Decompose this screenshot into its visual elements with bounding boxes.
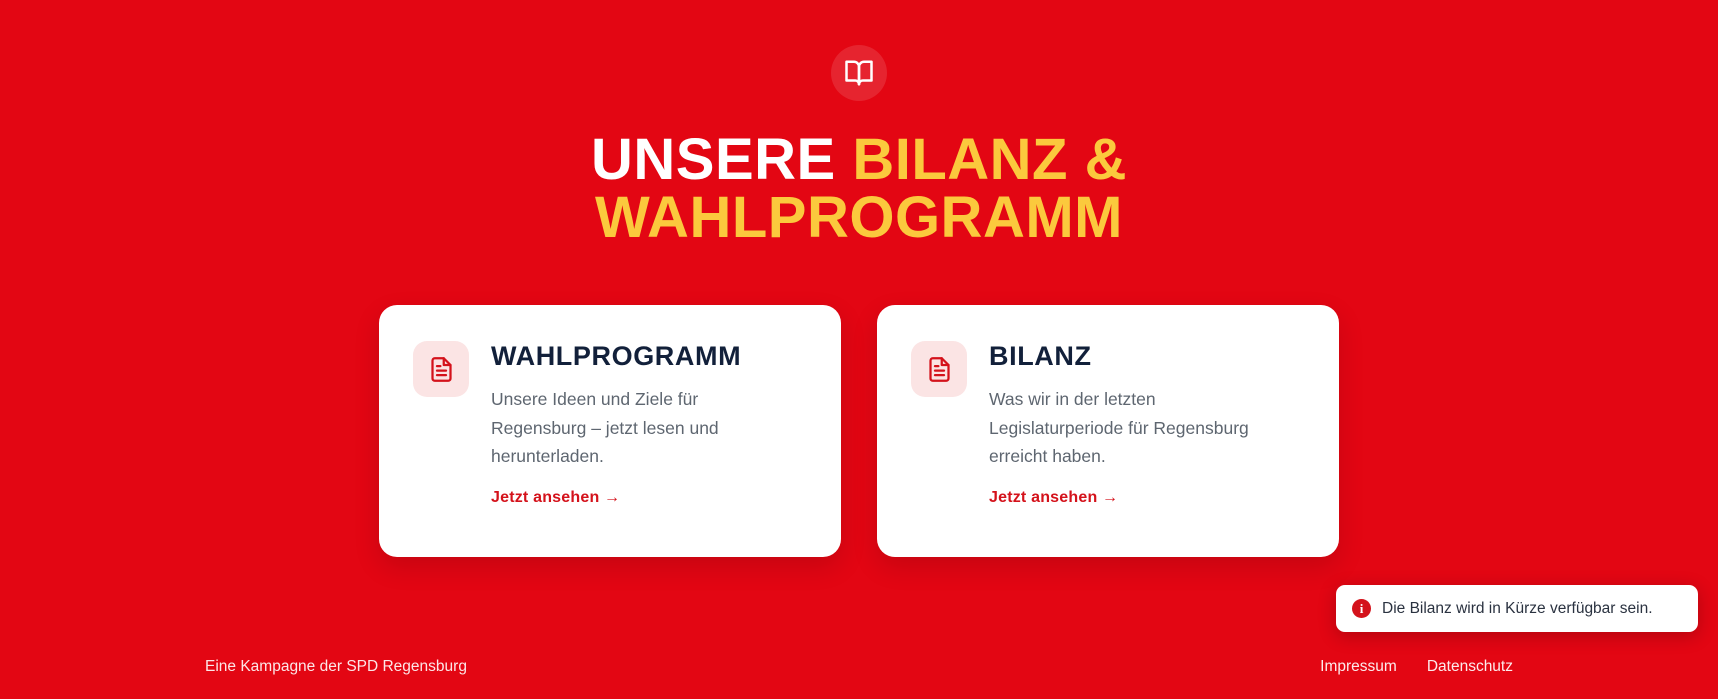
footer-link-impressum[interactable]: Impressum [1320, 658, 1397, 676]
page-title: UNSERE BILANZ & WAHLPROGRAMM [309, 131, 1409, 247]
page-title-white: UNSERE [591, 127, 852, 192]
card-description: Was wir in der letzten Legislaturperiode… [989, 385, 1289, 471]
page-root: UNSERE BILANZ & WAHLPROGRAMM WAHLPROGRAM… [0, 0, 1718, 699]
footer-link-datenschutz[interactable]: Datenschutz [1427, 658, 1513, 676]
card-link-bilanz[interactable]: Jetzt ansehen → [989, 489, 1118, 507]
card-grid: WAHLPROGRAMM Unsere Ideen und Ziele für … [0, 305, 1718, 557]
hero-section: UNSERE BILANZ & WAHLPROGRAMM [0, 0, 1718, 247]
card-bilanz[interactable]: BILANZ Was wir in der letzten Legislatur… [877, 305, 1339, 557]
toast-message: Die Bilanz wird in Kürze verfügbar sein. [1382, 600, 1653, 618]
card-title: WAHLPROGRAMM [491, 341, 807, 371]
card-link-wahlprogramm[interactable]: Jetzt ansehen → [491, 489, 620, 507]
card-title: BILANZ [989, 341, 1305, 371]
toast-notification[interactable]: i Die Bilanz wird in Kürze verfügbar sei… [1336, 585, 1698, 632]
info-circle-icon: i [1352, 599, 1371, 618]
document-text-icon [413, 341, 469, 397]
card-description: Unsere Ideen und Ziele für Regensburg – … [491, 385, 791, 471]
document-text-icon [911, 341, 967, 397]
footer-campaign-text: Eine Kampagne der SPD Regensburg [205, 658, 467, 676]
card-body: BILANZ Was wir in der letzten Legislatur… [989, 339, 1305, 527]
open-book-icon [831, 45, 887, 101]
footer: Eine Kampagne der SPD Regensburg Impress… [0, 635, 1718, 699]
page-title-gold-line1: BILANZ & [852, 127, 1127, 192]
page-title-gold-line2: WAHLPROGRAMM [595, 185, 1123, 250]
card-body: WAHLPROGRAMM Unsere Ideen und Ziele für … [491, 339, 807, 527]
footer-links: Impressum Datenschutz [1320, 658, 1513, 676]
card-wahlprogramm[interactable]: WAHLPROGRAMM Unsere Ideen und Ziele für … [379, 305, 841, 557]
